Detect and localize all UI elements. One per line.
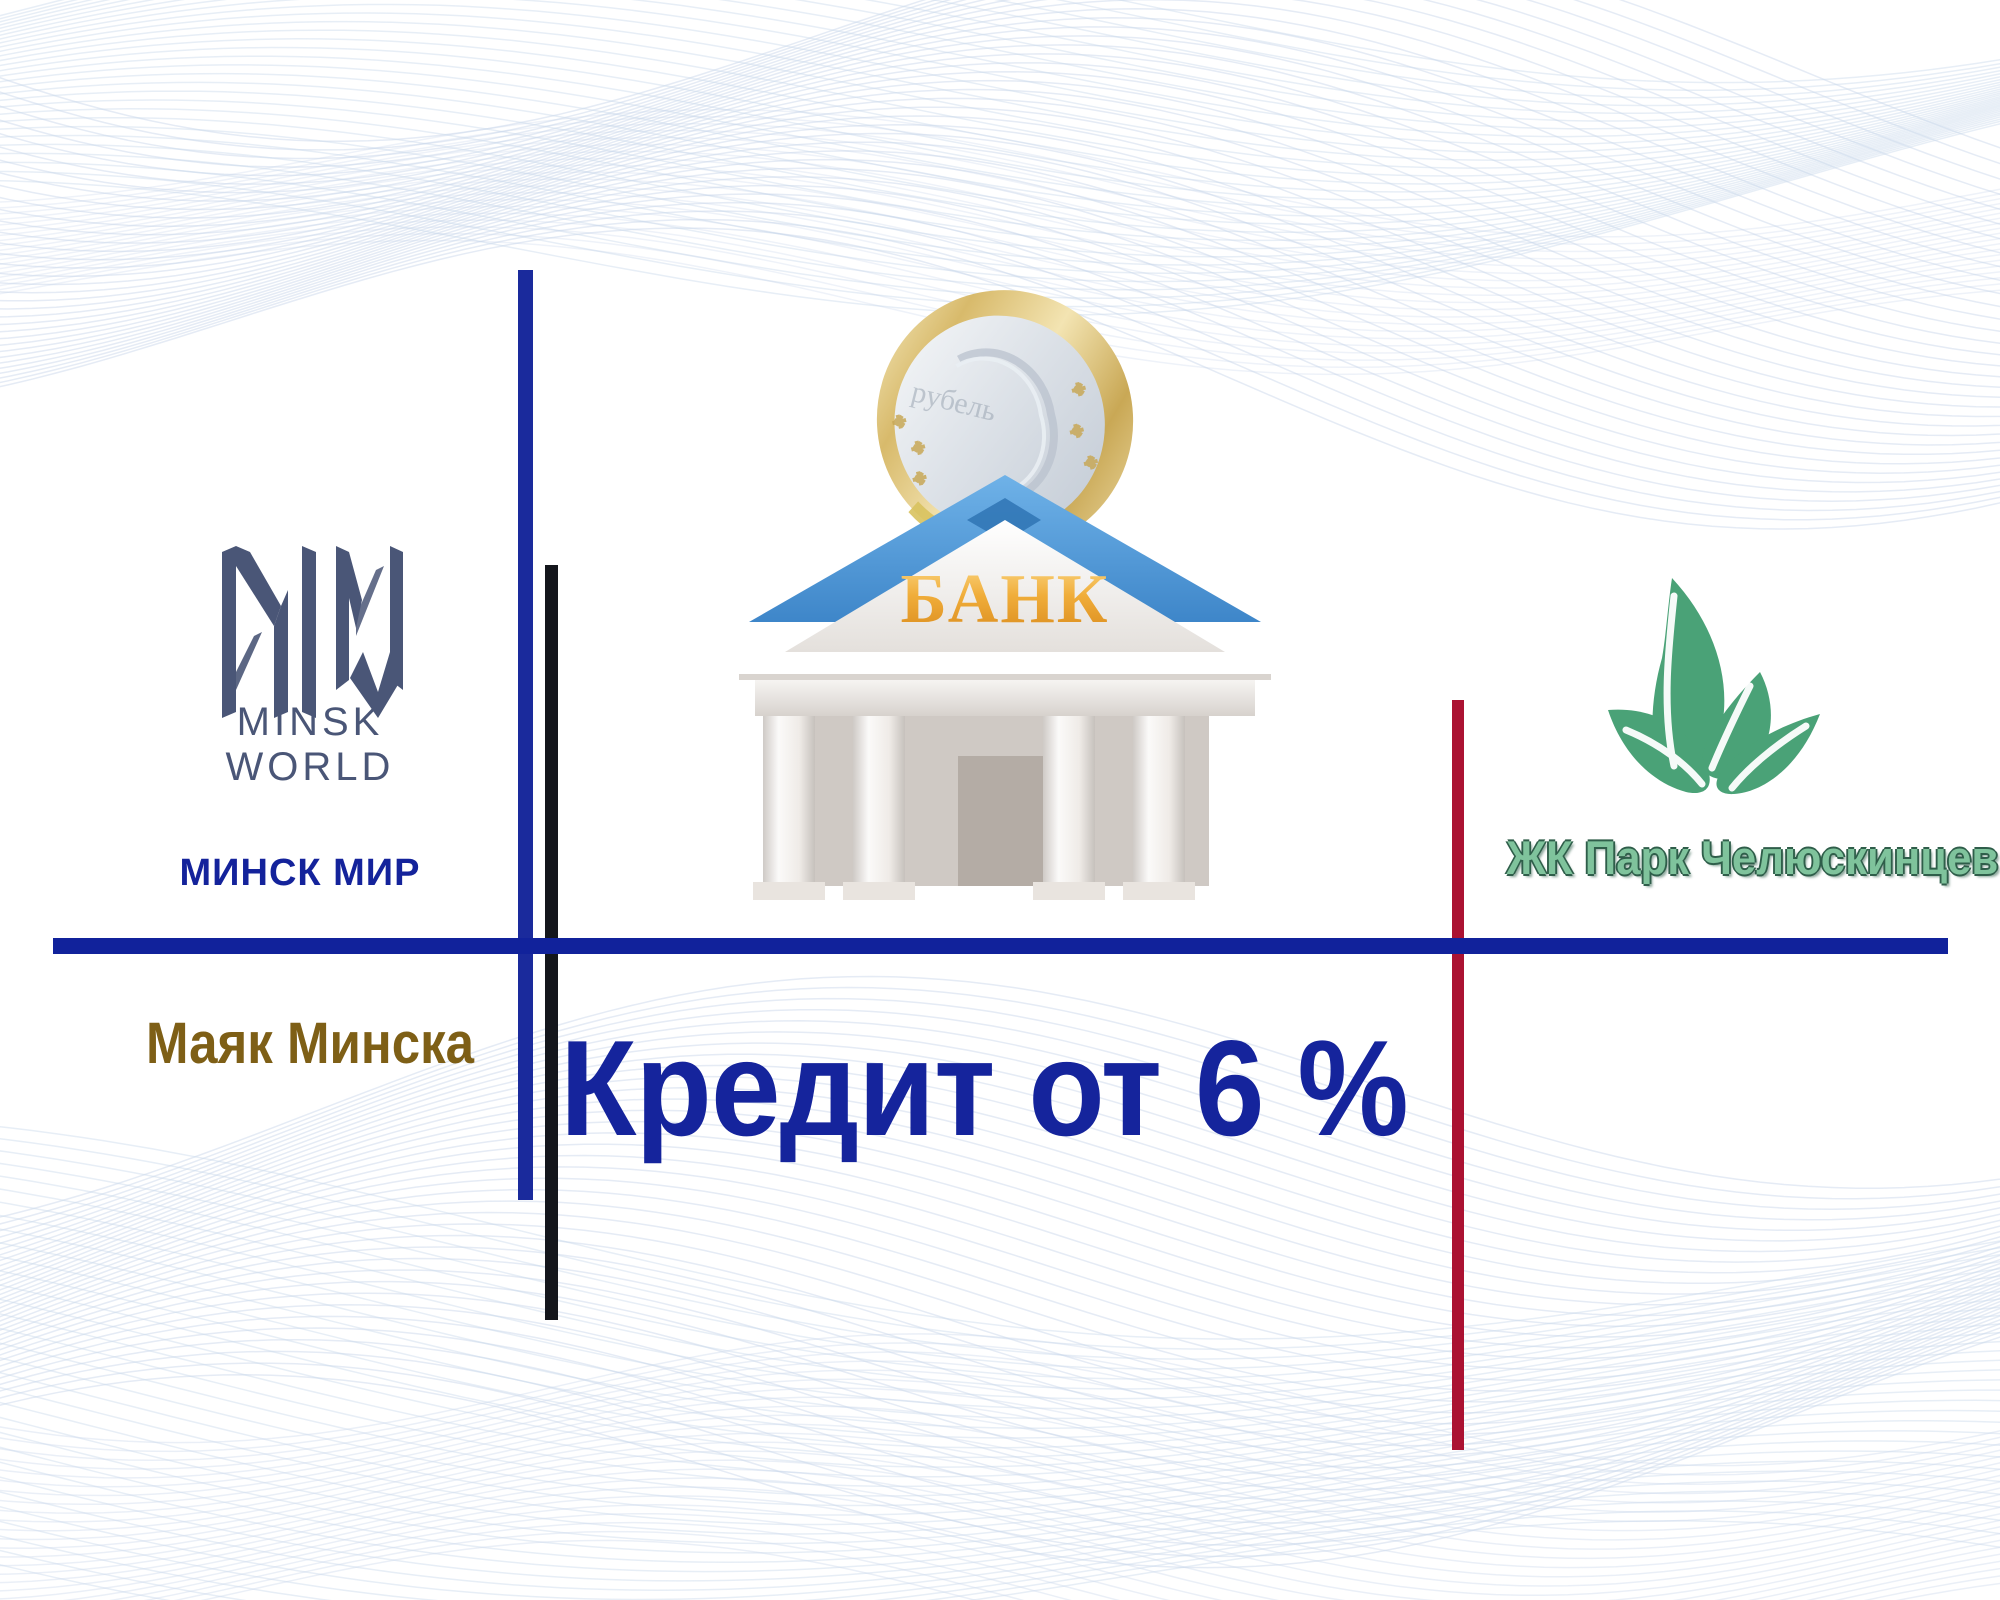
green-leaves-icon <box>1552 560 1882 840</box>
bank-building-with-coin-icon: рубель БАНК <box>705 270 1305 900</box>
park-chelyuskintsev-label: ЖК Парк Челюскинцев <box>1506 830 1943 885</box>
minsk-mir-label: МИНСК МИР <box>120 852 480 895</box>
horizontal-blue-rule <box>53 938 1948 954</box>
minsk-world-wordmark: MINSK WORLD <box>150 700 470 790</box>
mayak-minska-label: Маяк Минска <box>134 1010 486 1077</box>
promo-poster: MINSK WORLD МИНСК МИР Маяк Минска <box>0 0 2000 1600</box>
vertical-blue-rule <box>518 270 533 1200</box>
vertical-red-rule <box>1452 700 1464 1450</box>
svg-text:БАНК: БАНК <box>900 561 1109 638</box>
minsk-world-monogram-icon <box>150 540 470 720</box>
headline-credit-rate: Кредит от 6 % <box>560 1010 1406 1166</box>
